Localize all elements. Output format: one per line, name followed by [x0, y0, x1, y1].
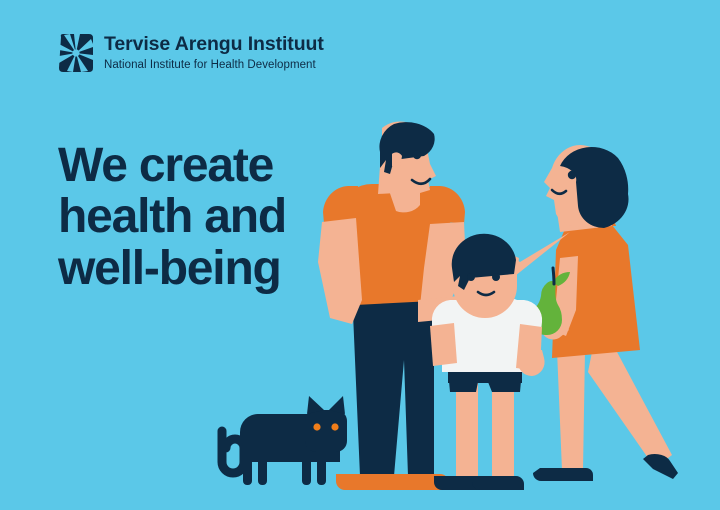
mother-eye: [568, 171, 576, 179]
page-headline: We create health and well-being: [58, 140, 358, 294]
boy-arm-left: [430, 323, 457, 366]
headline-line-3: well-being: [58, 243, 358, 294]
pear-stem: [553, 268, 554, 284]
starburst-logo-icon: [58, 33, 94, 73]
cat-eye-right: [331, 423, 338, 430]
brand-subtitle: National Institute for Health Developmen…: [104, 60, 324, 72]
boy-eye-left: [467, 273, 475, 281]
mother-shoe-front: [533, 468, 593, 481]
boy-eye-right: [492, 273, 500, 281]
cat-head: [305, 410, 347, 452]
brand-text-group: Tervise Arengu Instituut National Instit…: [104, 35, 324, 71]
cat-eye-left: [313, 423, 320, 430]
headline-line-1: We create: [58, 140, 358, 191]
boy-leg-right: [492, 382, 514, 478]
boy-leg-left: [456, 382, 478, 478]
father-eye: [413, 151, 421, 159]
poster-canvas: Tervise Arengu Instituut National Instit…: [0, 0, 720, 510]
brand-title: Tervise Arengu Instituut: [104, 35, 324, 55]
brand-lockup: Tervise Arengu Instituut National Instit…: [58, 33, 324, 73]
boy-shoe-right: [472, 476, 524, 490]
headline-line-2: health and: [58, 191, 358, 242]
